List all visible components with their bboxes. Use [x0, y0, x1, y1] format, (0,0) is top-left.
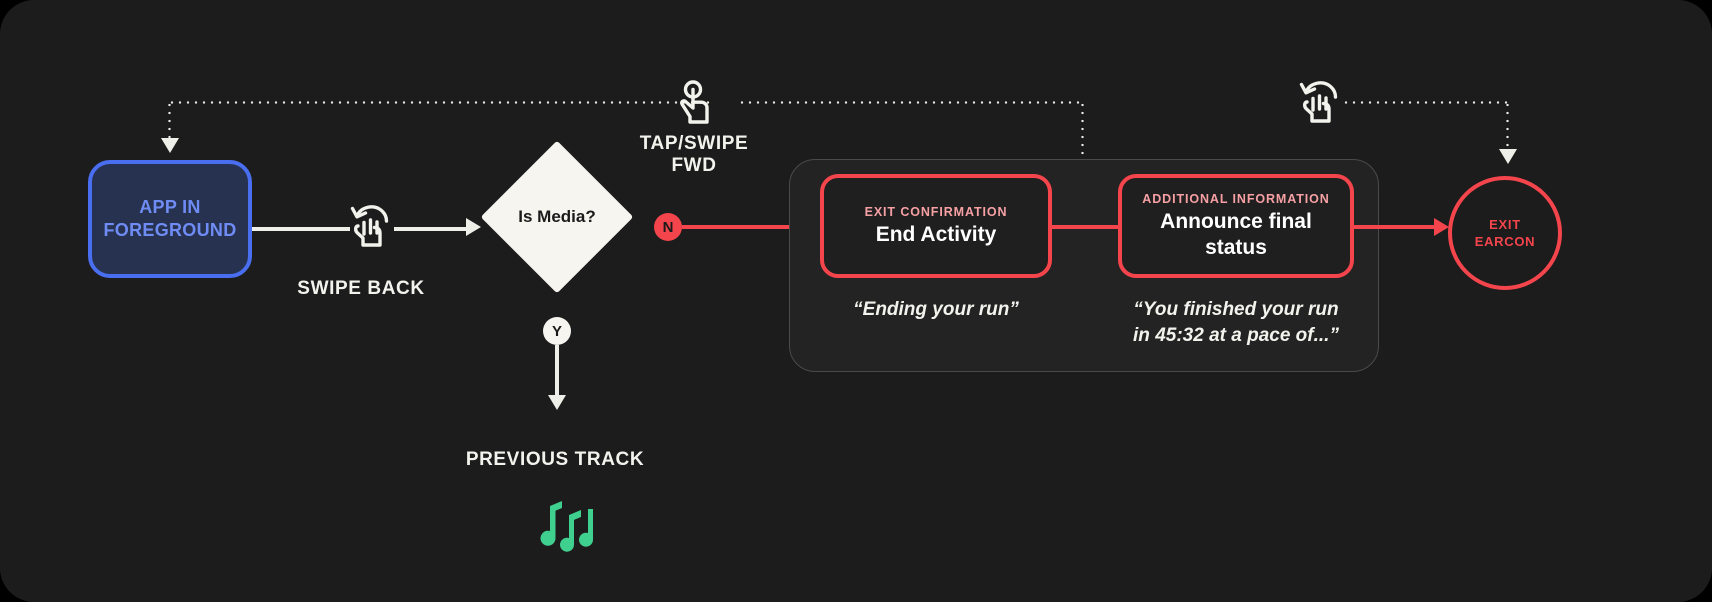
edge-earcon-arrowhead — [1434, 218, 1449, 236]
edge-exit-to-info — [1048, 225, 1122, 229]
card-exit-kicker: EXIT CONFIRMATION — [865, 205, 1008, 219]
edge-info-to-earcon — [1350, 225, 1434, 229]
edge-swipe-to-diamond — [394, 227, 466, 231]
dotted-return-arrowhead-earcon — [1499, 149, 1517, 164]
exit-earcon-label: EXIT EARCON — [1475, 216, 1536, 250]
dotted-return-arrowhead-app — [161, 138, 179, 153]
node-decision-is-media[interactable]: Is Media? — [481, 141, 633, 293]
edge-yes-arrowhead — [548, 395, 566, 410]
flowchart-canvas: APP IN FOREGROUND SWIPE BACK TAP/SWIPE F… — [0, 0, 1712, 602]
card-additional-information[interactable]: ADDITIONAL INFORMATION Announce final st… — [1118, 174, 1354, 278]
app-in-foreground-label: APP IN FOREGROUND — [104, 196, 237, 242]
dotted-return-path-top — [168, 101, 710, 104]
dotted-path-earcon-drop — [1506, 101, 1509, 151]
edge-app-to-swipe — [252, 227, 350, 231]
card-exit-title: End Activity — [876, 222, 997, 248]
card-info-quote: “You finished your run in 45:32 at a pac… — [1110, 297, 1362, 349]
swipe-back-gesture-icon-2 — [1298, 78, 1342, 124]
card-exit-quote: “Ending your run” — [820, 297, 1052, 323]
dotted-return-path-left — [168, 101, 171, 141]
music-notes-icon — [538, 498, 600, 554]
badge-no: N — [654, 213, 682, 241]
card-exit-confirmation[interactable]: EXIT CONFIRMATION End Activity — [820, 174, 1052, 278]
decision-label: Is Media? — [481, 141, 633, 293]
dotted-path-right — [1342, 101, 1508, 104]
dotted-path-panel-drop — [1081, 101, 1084, 158]
node-app-in-foreground[interactable]: APP IN FOREGROUND — [88, 160, 252, 278]
card-info-title: Announce final status — [1160, 209, 1312, 261]
tap-gesture-icon — [672, 78, 716, 126]
label-swipe-back: SWIPE BACK — [291, 278, 431, 300]
dotted-path-mid — [738, 101, 1083, 104]
node-exit-earcon[interactable]: EXIT EARCON — [1448, 176, 1562, 290]
edge-diamond-arrowhead — [466, 218, 481, 236]
edge-yes-down — [555, 345, 559, 397]
label-tap-swipe-fwd: TAP/SWIPE FWD — [618, 133, 770, 177]
badge-yes: Y — [543, 317, 571, 345]
card-info-kicker: ADDITIONAL INFORMATION — [1142, 192, 1329, 206]
label-previous-track: PREVIOUS TRACK — [465, 449, 645, 471]
swipe-back-gesture-icon — [349, 202, 393, 248]
